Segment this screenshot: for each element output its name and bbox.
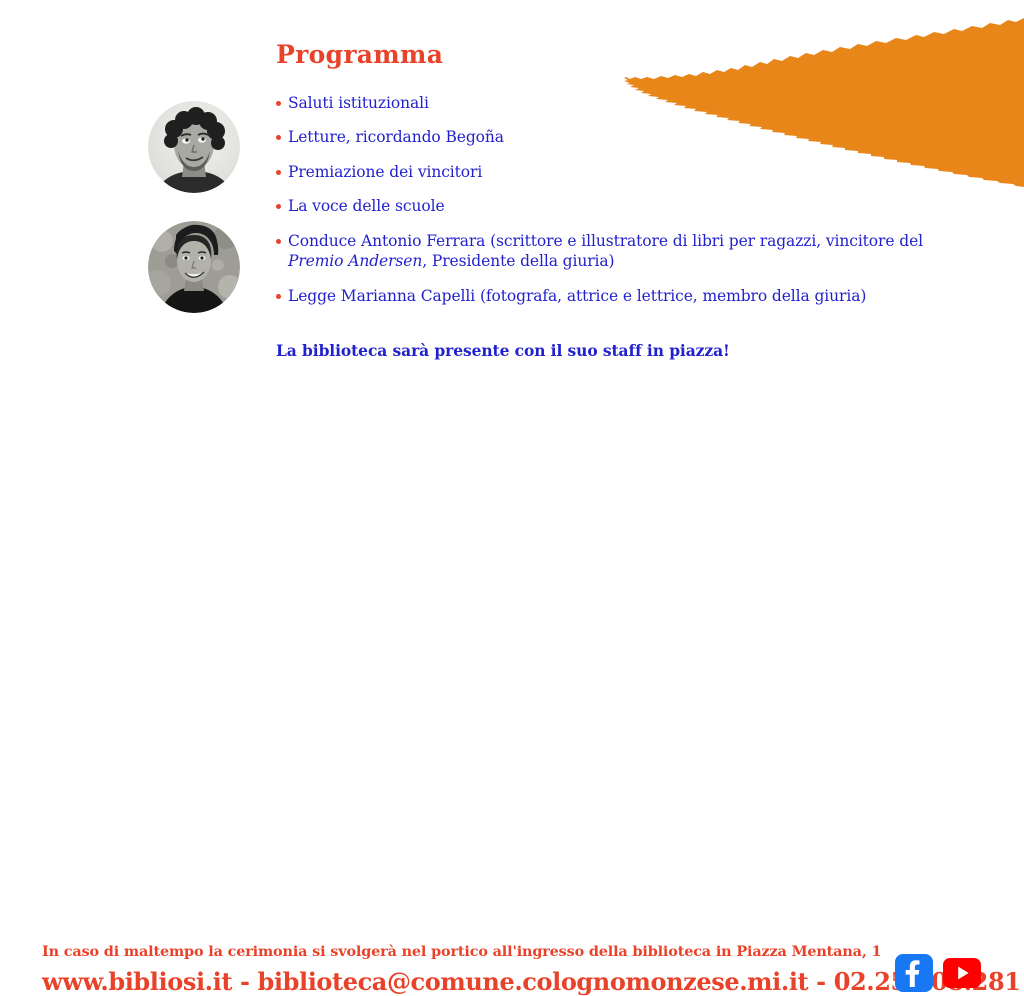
bullet-dot-icon [276, 239, 281, 244]
programme-item-label: Letture, ricordando Begoña [288, 127, 936, 147]
programme-item-label: Legge Marianna Capelli (fotografa, attri… [288, 286, 936, 306]
programme-item-legge: Legge Marianna Capelli (fotografa, attri… [276, 286, 936, 306]
poster-canvas: Programma Saluti istituzionali Letture, … [0, 0, 1024, 512]
programme-item-saluti: Saluti istituzionali [276, 93, 936, 113]
staff-note: La biblioteca sarà presente con il suo s… [276, 341, 730, 360]
conduce-text-before: Conduce Antonio Ferrara (scrittore e ill… [288, 232, 923, 250]
programme-list: Saluti istituzionali Letture, ricordando… [276, 93, 936, 306]
portrait-conductor [148, 101, 240, 193]
portrait-reader [148, 221, 240, 313]
weather-note: In caso di maltempo la cerimonia si svol… [42, 943, 881, 960]
programme-item-voce-scuole: La voce delle scuole [276, 196, 936, 216]
bullet-dot-icon [276, 170, 281, 175]
facebook-icon[interactable] [895, 954, 933, 992]
conduce-text-after: , Presidente della giuria) [422, 252, 614, 270]
programme-item-label: La voce delle scuole [288, 196, 936, 216]
contact-line[interactable]: www.bibliosi.it - biblioteca@comune.colo… [42, 967, 1021, 996]
programme-item-label: Conduce Antonio Ferrara (scrittore e ill… [288, 231, 936, 272]
bullet-dot-icon [276, 135, 281, 140]
bullet-dot-icon [276, 101, 281, 106]
programme-item-premiazione: Premiazione dei vincitori [276, 162, 936, 182]
programme-item-conduce: Conduce Antonio Ferrara (scrittore e ill… [276, 231, 936, 272]
programme-item-label: Saluti istituzionali [288, 93, 936, 113]
portrait-conductor-image [148, 101, 240, 193]
programme-block: Programma Saluti istituzionali Letture, … [276, 42, 936, 306]
conduce-award-title: Premio Andersen [288, 252, 422, 270]
bullet-dot-icon [276, 204, 281, 209]
programme-item-label: Premiazione dei vincitori [288, 162, 936, 182]
programme-item-letture: Letture, ricordando Begoña [276, 127, 936, 147]
social-icons [895, 954, 981, 992]
bullet-dot-icon [276, 294, 281, 299]
programme-title: Programma [276, 42, 936, 67]
youtube-icon[interactable] [943, 954, 981, 992]
portrait-reader-image [148, 221, 240, 313]
